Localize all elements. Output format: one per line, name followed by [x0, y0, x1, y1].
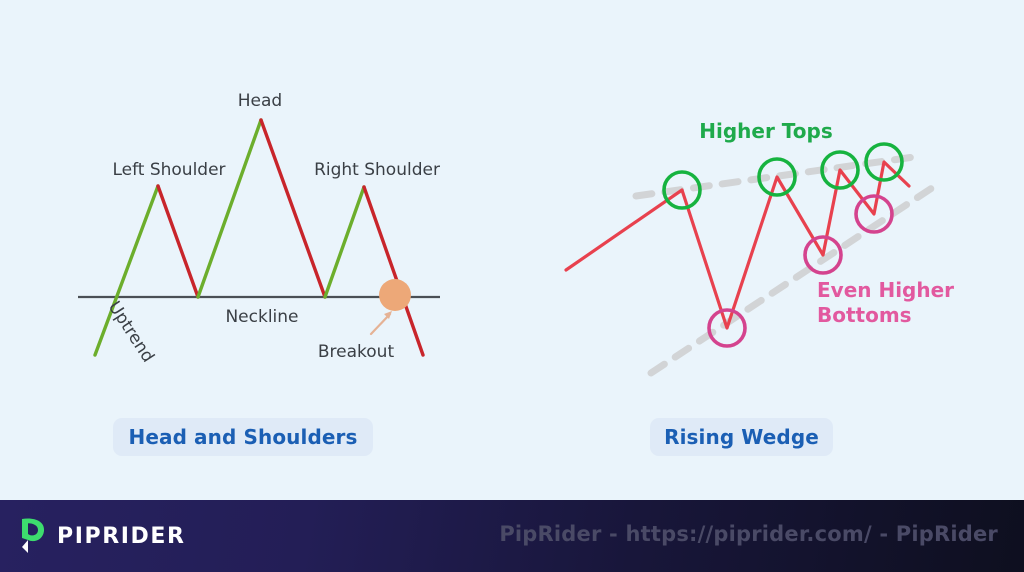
price-leg-left-shoulder-down: [158, 186, 198, 297]
slide-canvas: Head Left Shoulder Right Shoulder Neckli…: [0, 0, 1024, 572]
label-uptrend: Uptrend: [104, 298, 158, 366]
label-even-higher-bottoms-line2: Bottoms: [817, 303, 912, 327]
caption-head-and-shoulders: Head and Shoulders: [113, 418, 373, 456]
label-head: Head: [238, 91, 282, 111]
brand-name: PIPRIDER: [57, 524, 186, 549]
label-higher-tops: Higher Tops: [699, 119, 833, 143]
price-leg-head-down: [261, 120, 325, 297]
price-leg-head-up: [198, 120, 261, 297]
piprider-leaf-logo-icon: [18, 516, 48, 556]
label-left-shoulder: Left Shoulder: [112, 160, 225, 180]
breakout-arrow-icon: [371, 311, 392, 334]
breakout-marker: [379, 279, 411, 311]
brand-lockup: PIPRIDER: [18, 514, 186, 558]
label-neckline: Neckline: [225, 307, 298, 327]
label-even-higher-bottoms-line1: Even Higher: [817, 278, 954, 302]
footer-bar: PIPRIDER PipRider - https://piprider.com…: [0, 500, 1024, 572]
label-breakout: Breakout: [318, 342, 395, 362]
price-leg-right-shoulder-up: [325, 187, 364, 297]
footer-url-text: PipRider - https://piprider.com/ - PipRi…: [499, 522, 998, 546]
caption-rising-wedge: Rising Wedge: [650, 418, 833, 456]
price-leg-breakout-down: [364, 187, 423, 355]
label-right-shoulder: Right Shoulder: [314, 160, 440, 180]
